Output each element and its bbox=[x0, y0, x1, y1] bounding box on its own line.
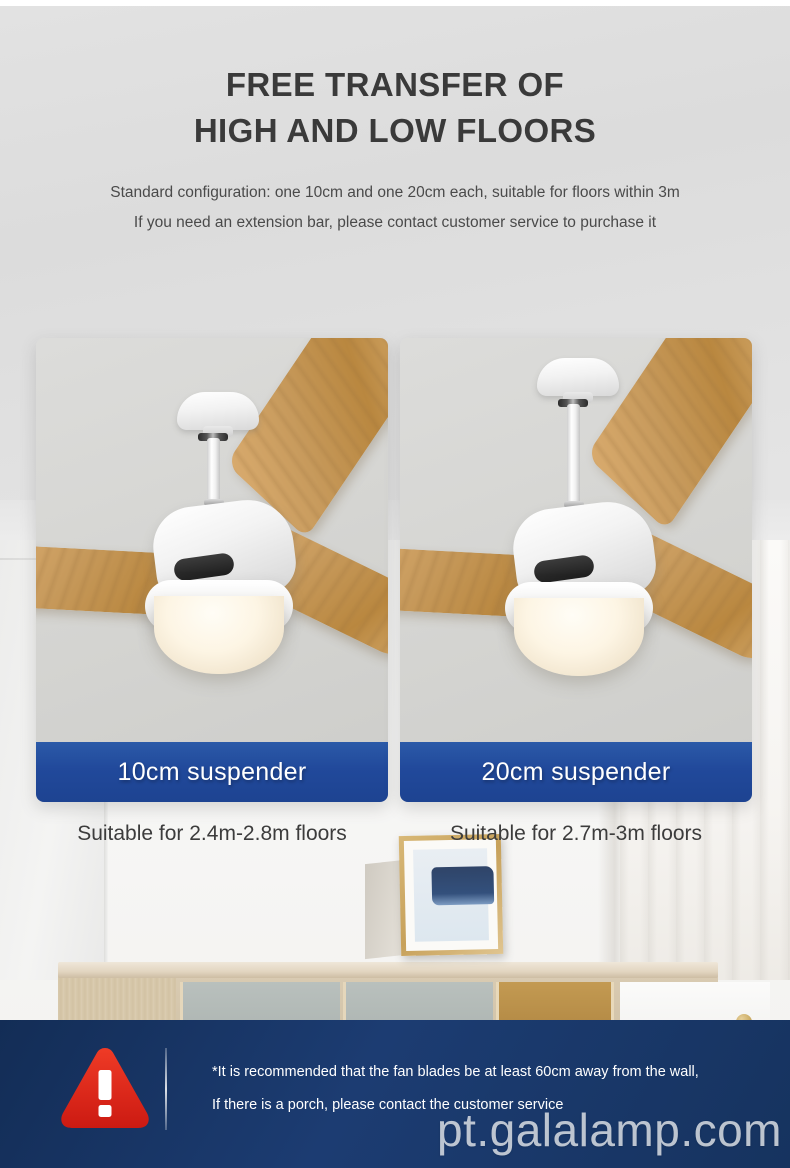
title-line-1: FREE TRANSFER OF bbox=[0, 62, 790, 108]
card-caption-20cm: Suitable for 2.7m-3m floors bbox=[400, 822, 752, 846]
warning-triangle-svg bbox=[58, 1043, 152, 1133]
product-infographic-page: FREE TRANSFER OF HIGH AND LOW FLOORS Sta… bbox=[0, 0, 790, 1168]
artwork-blue-shape bbox=[431, 866, 494, 905]
warning-line-1: *It is recommended that the fan blades b… bbox=[212, 1056, 772, 1089]
card-label-bar-20cm: 20cm suspender bbox=[400, 742, 752, 802]
product-card-20cm[interactable]: 20cm suspender bbox=[400, 338, 752, 802]
downrod-10cm bbox=[207, 438, 220, 506]
warning-text: *It is recommended that the fan blades b… bbox=[212, 1056, 772, 1122]
ceiling-fan-icon bbox=[36, 338, 388, 742]
ceiling-mount bbox=[537, 358, 619, 396]
ceiling-fan-icon bbox=[400, 338, 752, 742]
led-light-diffuser bbox=[514, 598, 644, 676]
page-subtitle: Standard configuration: one 10cm and one… bbox=[0, 178, 790, 238]
artwork-canvas bbox=[413, 848, 489, 942]
card-label-text: 20cm suspender bbox=[481, 758, 670, 787]
led-light-diffuser bbox=[154, 596, 284, 674]
sideboard-top-surface bbox=[58, 962, 718, 978]
subtitle-line-2: If you need an extension bar, please con… bbox=[0, 208, 790, 238]
framed-artwork bbox=[399, 834, 503, 956]
subtitle-line-1: Standard configuration: one 10cm and one… bbox=[0, 178, 790, 208]
sideboard-furniture bbox=[58, 948, 718, 1030]
product-photo-10cm bbox=[36, 338, 388, 742]
card-label-text: 10cm suspender bbox=[117, 758, 306, 787]
downrod-20cm bbox=[567, 404, 580, 508]
warning-line-2: If there is a porch, please contact the … bbox=[212, 1089, 772, 1122]
product-photo-20cm bbox=[400, 338, 752, 742]
ceiling-mount bbox=[177, 392, 259, 430]
card-label-bar-10cm: 10cm suspender bbox=[36, 742, 388, 802]
warning-triangle-icon bbox=[58, 1043, 152, 1133]
title-line-2: HIGH AND LOW FLOORS bbox=[0, 108, 790, 154]
page-title: FREE TRANSFER OF HIGH AND LOW FLOORS bbox=[0, 62, 790, 154]
product-card-10cm[interactable]: 10cm suspender bbox=[36, 338, 388, 802]
warning-divider bbox=[165, 1048, 167, 1130]
card-caption-10cm: Suitable for 2.4m-2.8m floors bbox=[36, 822, 388, 846]
